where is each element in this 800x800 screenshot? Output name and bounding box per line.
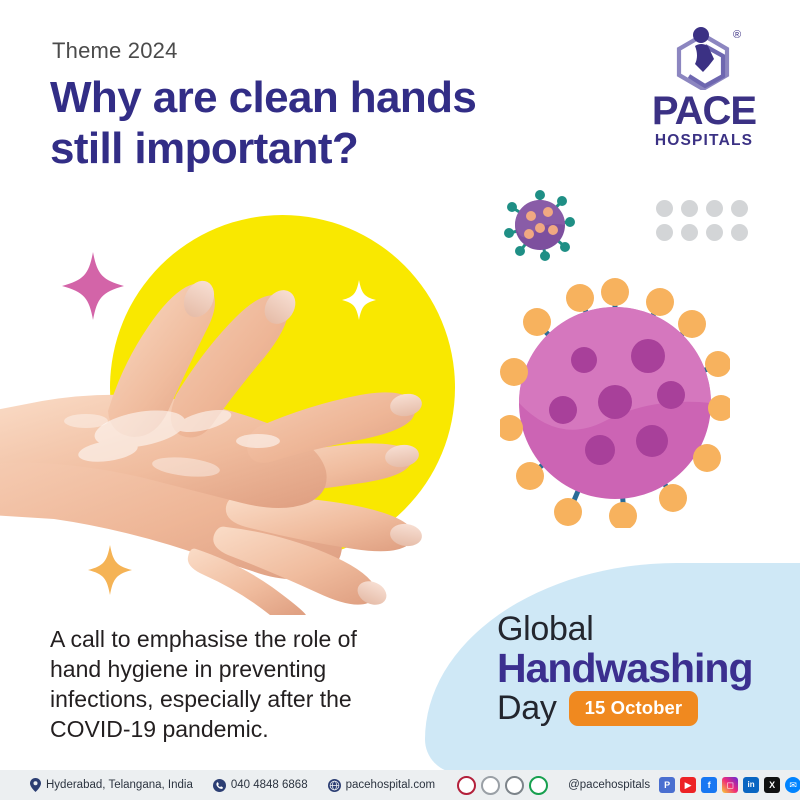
grid-dot — [681, 200, 698, 217]
pace-hospitals-logo: ® PACE HOSPITALS — [638, 26, 770, 150]
grid-dot — [656, 224, 673, 241]
grid-dot — [656, 200, 673, 217]
event-line-handwashing: Handwashing — [497, 647, 753, 690]
headline-line-1: Why are clean hands — [50, 73, 476, 122]
footer-location-text: Hyderabad, Telangana, India — [46, 779, 193, 791]
phone-icon — [213, 779, 226, 792]
event-line-global: Global — [497, 612, 753, 647]
x-twitter-icon[interactable]: X — [764, 777, 780, 793]
logo-wordmark: PACE — [638, 92, 770, 130]
footer-phone-text: 040 4848 6868 — [231, 779, 308, 791]
description-line-4: COVID-19 pandemic. — [50, 715, 432, 745]
logo-hexagon-person-icon: ® — [638, 26, 770, 90]
facebook-icon[interactable]: f — [701, 777, 717, 793]
grid-dot — [731, 200, 748, 217]
green-accreditation-badge — [529, 776, 548, 795]
footer-website-text: pacehospital.com — [346, 779, 436, 791]
grid-dot — [706, 224, 723, 241]
description-line-1: A call to emphasise the role of — [50, 625, 432, 655]
grid-dot — [681, 224, 698, 241]
sparkle-white-icon — [342, 280, 376, 320]
footer-location: Hyderabad, Telangana, India — [30, 778, 193, 792]
description-line-3: infections, especially after the — [50, 685, 432, 715]
nabh-badge — [457, 776, 476, 795]
globe-icon — [328, 779, 341, 792]
dot-grid-decoration — [652, 196, 752, 244]
footer-phone[interactable]: 040 4848 6868 — [213, 779, 308, 792]
description-text: A call to emphasise the role of hand hyg… — [50, 625, 432, 745]
iso-badge — [505, 776, 524, 795]
washing-hands-photo — [0, 215, 460, 615]
headline-line-2: still important? — [50, 123, 670, 174]
practo-icon[interactable]: P — [659, 777, 675, 793]
logo-subtitle: HOSPITALS — [638, 132, 770, 150]
event-title-block: Global Handwashing Day 15 October — [497, 612, 753, 726]
messenger-icon[interactable]: ✉ — [785, 777, 800, 793]
theme-label: Theme 2024 — [52, 38, 178, 64]
social-links: @pacehospitals P ▶ f ◻ in X ✉ ✆ P @ ◉ ♫ — [568, 777, 800, 793]
linkedin-icon[interactable]: in — [743, 777, 759, 793]
instagram-icon[interactable]: ◻ — [722, 777, 738, 793]
footer-bar: Hyderabad, Telangana, India 040 4848 686… — [0, 770, 800, 800]
social-handle: @pacehospitals — [568, 779, 650, 791]
footer-website[interactable]: pacehospital.com — [328, 779, 436, 792]
map-pin-icon — [30, 778, 41, 792]
event-date-badge: 15 October — [569, 691, 699, 726]
page-title: Why are clean hands still important? — [50, 72, 670, 174]
registered-mark: ® — [733, 29, 741, 41]
poster-canvas: Theme 2024 Why are clean hands still imp… — [0, 0, 800, 800]
event-line-day: Day — [497, 691, 557, 726]
nabl-badge — [481, 776, 500, 795]
grid-dot — [706, 200, 723, 217]
grid-dot — [731, 224, 748, 241]
youtube-icon[interactable]: ▶ — [680, 777, 696, 793]
certification-badges — [457, 776, 548, 795]
virus-small-icon — [503, 188, 577, 267]
virus-large-icon — [500, 278, 730, 533]
description-line-2: hand hygiene in preventing — [50, 655, 432, 685]
